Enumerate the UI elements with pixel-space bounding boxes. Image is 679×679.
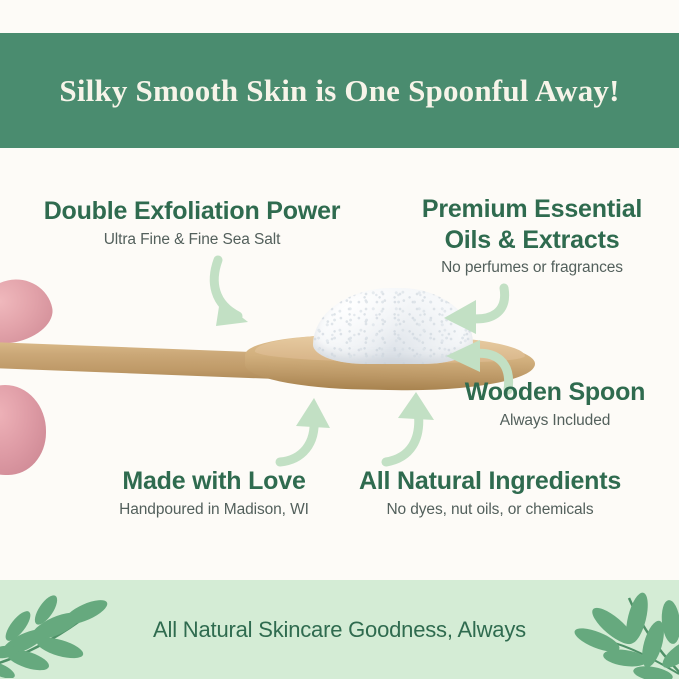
feature-double-exfoliation-power: Double Exfoliation Power Ultra Fine & Fi… xyxy=(14,196,370,250)
feature-wooden-spoon: Wooden Spoon Always Included xyxy=(440,377,670,431)
feature-title: Premium Essential Oils & Extracts xyxy=(398,194,666,255)
feature-premium-essential-oils-extracts: Premium Essential Oils & Extracts No per… xyxy=(398,194,666,278)
olive-branch-icon-left xyxy=(0,586,114,678)
header-banner: Silky Smooth Skin is One Spoonful Away! xyxy=(0,33,679,148)
feature-title: Made with Love xyxy=(78,466,350,497)
feature-title: Double Exfoliation Power xyxy=(14,196,370,227)
footer-tagline: All Natural Skincare Goodness, Always xyxy=(153,617,526,643)
hand-finger-bottom xyxy=(0,385,46,475)
hand-finger-top xyxy=(0,273,58,350)
olive-branch-icon-right xyxy=(567,582,679,679)
sea-salt-grain-texture xyxy=(313,288,473,364)
header-title: Silky Smooth Skin is One Spoonful Away! xyxy=(59,73,619,109)
feature-made-with-love: Made with Love Handpoured in Madison, WI xyxy=(78,466,350,520)
feature-subtitle: Handpoured in Madison, WI xyxy=(78,500,350,520)
feature-subtitle: Always Included xyxy=(440,411,670,431)
feature-title: Wooden Spoon xyxy=(440,377,670,408)
feature-title: All Natural Ingredients xyxy=(340,466,640,497)
feature-all-natural-ingredients: All Natural Ingredients No dyes, nut oil… xyxy=(340,466,640,520)
footer-banner: All Natural Skincare Goodness, Always xyxy=(0,580,679,679)
feature-subtitle: Ultra Fine & Fine Sea Salt xyxy=(14,230,370,250)
feature-subtitle: No perfumes or fragrances xyxy=(398,258,666,278)
product-feature-infographic: Silky Smooth Skin is One Spoonful Away! xyxy=(0,0,679,679)
feature-subtitle: No dyes, nut oils, or chemicals xyxy=(340,500,640,520)
